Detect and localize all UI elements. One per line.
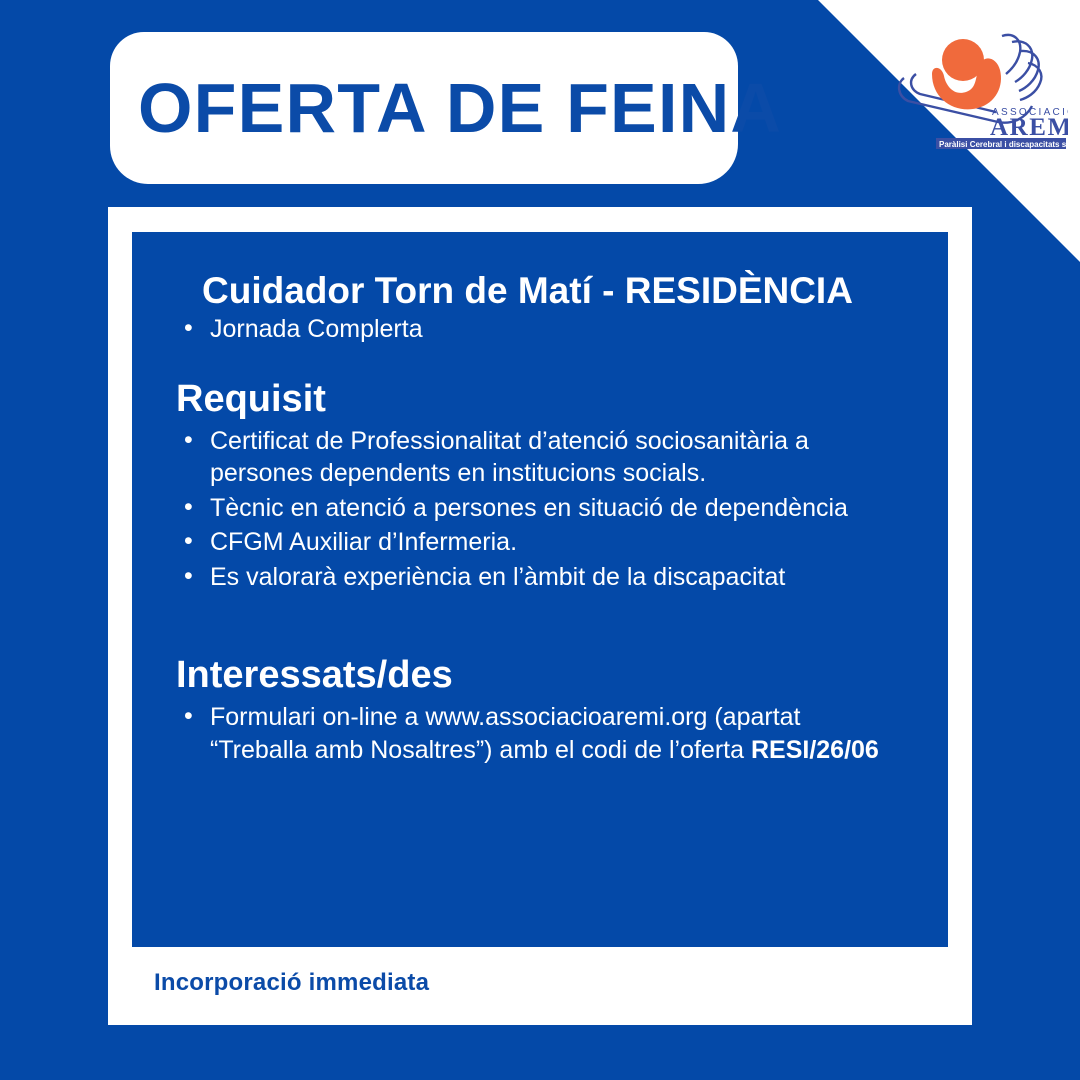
content-frame: Cuidador Torn de Matí - RESIDÈNCIA Jorna… (108, 207, 972, 1025)
list-item: Tècnic en atenció a persones en situació… (176, 492, 904, 525)
job-offer-poster: ASSOCIACIÓ AREMI Paràlisi Cerebral i dis… (0, 0, 1080, 1080)
content-panel: Cuidador Torn de Matí - RESIDÈNCIA Jorna… (132, 232, 948, 947)
aremi-logo: ASSOCIACIÓ AREMI Paràlisi Cerebral i dis… (886, 22, 1068, 150)
apply-text: Formulari on-line a www.associacioaremi.… (210, 703, 801, 764)
logo-wordmark: ASSOCIACIÓ AREMI (990, 105, 1068, 141)
job-title: Cuidador Torn de Matí - RESIDÈNCIA (202, 270, 904, 313)
list-item: Es valorarà experiència en l’àmbit de la… (176, 561, 904, 594)
requirements-list: Certificat de Professionalitat d’atenció… (176, 425, 904, 594)
offer-code: RESI/26/06 (751, 736, 879, 764)
conditions-list: Jornada Complerta (176, 313, 904, 346)
logo-org-name: AREMI (990, 114, 1068, 141)
list-item: CFGM Auxiliar d’Infermeria. (176, 526, 904, 559)
apply-list: Formulari on-line a www.associacioaremi.… (176, 701, 904, 766)
footer-note: Incorporació immediata (154, 969, 429, 997)
list-item: Certificat de Professionalitat d’atenció… (176, 425, 904, 490)
logo-tagline: Paràlisi Cerebral i discapacitats simila… (939, 140, 1068, 149)
apply-heading: Interessats/des (176, 655, 904, 697)
list-item: Jornada Complerta (176, 313, 904, 346)
requirements-heading: Requisit (176, 379, 904, 421)
list-item: Formulari on-line a www.associacioaremi.… (176, 701, 904, 766)
person-figure-icon (932, 39, 1001, 109)
poster-title: OFERTA DE FEINA (110, 73, 782, 143)
title-banner: OFERTA DE FEINA (110, 32, 738, 184)
